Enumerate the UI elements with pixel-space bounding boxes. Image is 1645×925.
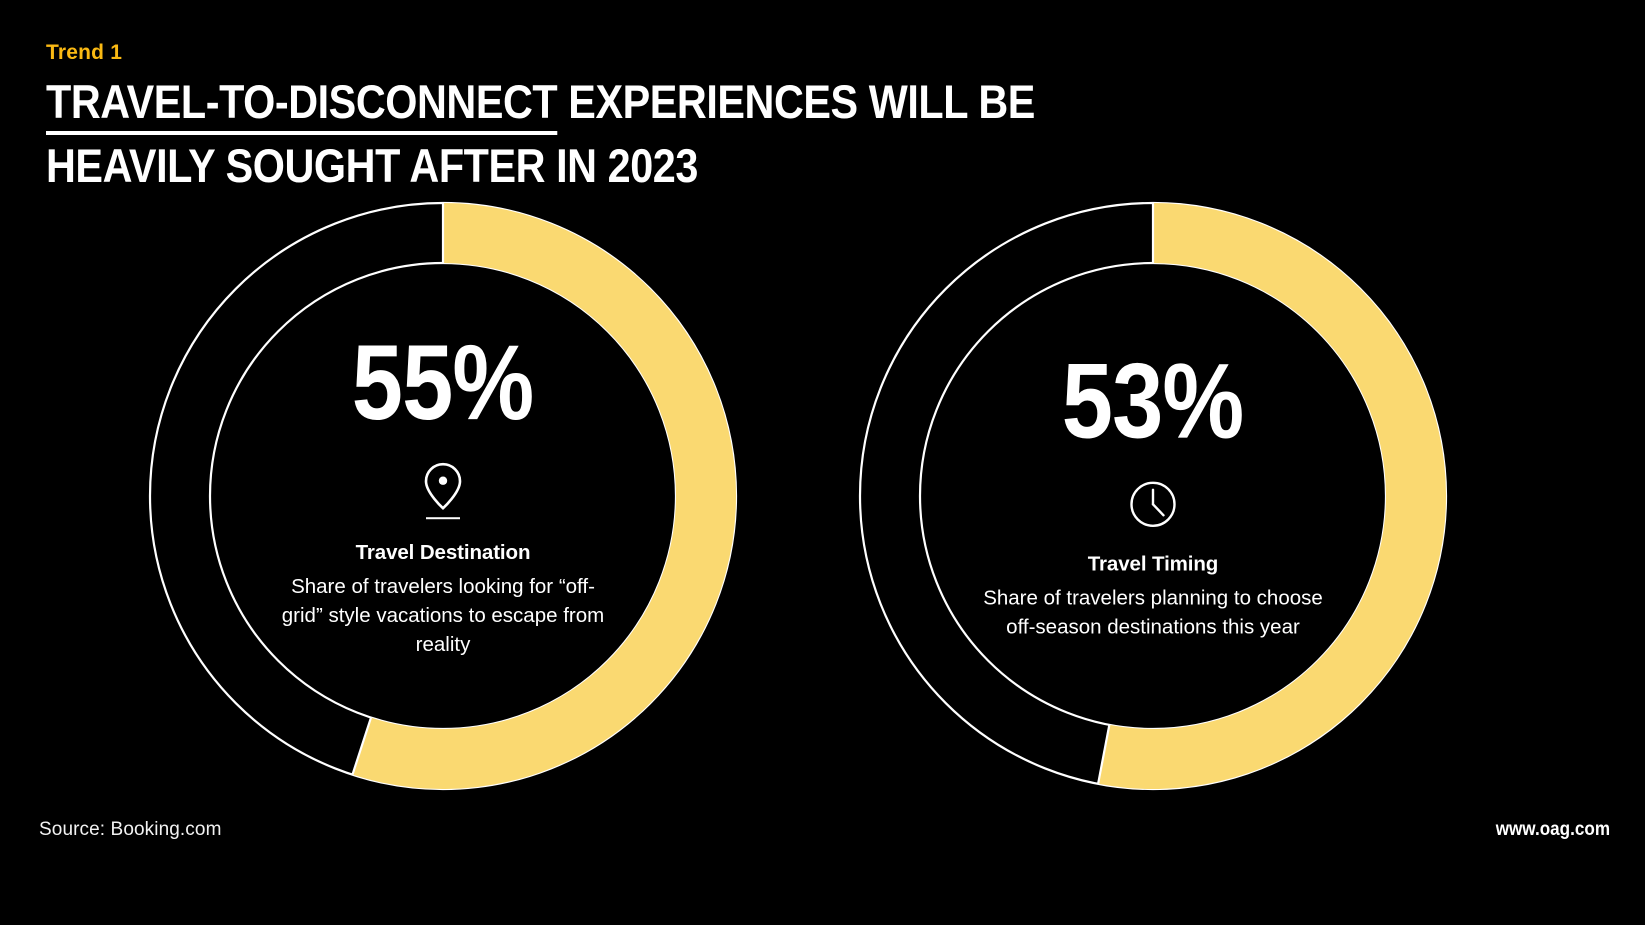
metric-description-left: Share of travelers looking for “off-grid… (273, 572, 613, 659)
percentage-value-left: 55% (352, 332, 534, 434)
headline-underlined-phrase: TRAVEL-TO-DISCONNECT (46, 75, 557, 135)
header: Trend 1 TRAVEL-TO-DISCONNECT EXPERIENCES… (46, 42, 1170, 194)
source-credit: Source: Booking.com (39, 819, 222, 841)
page-title: TRAVEL-TO-DISCONNECT EXPERIENCES WILL BE… (46, 74, 1035, 194)
donut-chart-travel-destination: 55% Travel Destination Share of traveler… (143, 196, 743, 796)
website-url: www.oag.com (1496, 819, 1610, 841)
charts-container: 55% Travel Destination Share of traveler… (0, 196, 1645, 816)
donut-chart-travel-timing: 53% Travel Timing Share of travelers pla… (853, 196, 1453, 796)
headline-rest: EXPERIENCES WILL BE (557, 75, 1035, 128)
percentage-value-right: 53% (1062, 350, 1244, 452)
trend-label: Trend 1 (46, 42, 1170, 63)
clock-icon (1127, 478, 1179, 530)
headline-line-2: HEAVILY SOUGHT AFTER IN 2023 (46, 138, 1035, 193)
location-pin-base-line (426, 517, 460, 519)
donut-center-left: 55% Travel Destination Share of traveler… (243, 332, 643, 660)
metric-description-right: Share of travelers planning to choose of… (983, 584, 1323, 642)
metric-title-left: Travel Destination (356, 541, 531, 566)
metric-title-right: Travel Timing (1088, 552, 1218, 577)
location-pin-icon (421, 460, 465, 519)
donut-center-right: 53% Travel Timing Share of travelers pla… (953, 350, 1353, 641)
